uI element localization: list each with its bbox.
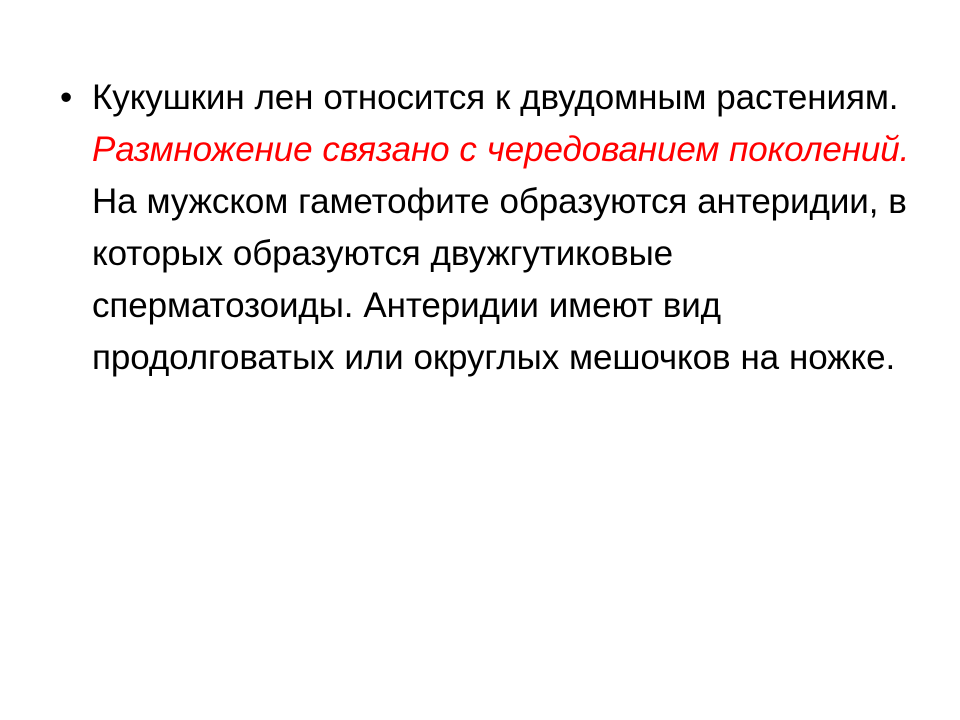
bullet-list-item[interactable]: • Кукушкин лен относится к двудомным рас… — [48, 72, 912, 384]
text-run-emphasis-red-italic: Размножение связано с чередованием покол… — [92, 130, 909, 169]
slide-body-placeholder[interactable]: • Кукушкин лен относится к двудомным рас… — [48, 72, 912, 384]
text-run-normal-leading: Кукушкин лен относится к двудомным расте… — [92, 78, 898, 117]
text-run-normal-trailing: На мужском гаметофите образуются антерид… — [92, 182, 907, 377]
slide-canvas: • Кукушкин лен относится к двудомным рас… — [0, 0, 960, 720]
bullet-point-icon: • — [60, 72, 80, 124]
